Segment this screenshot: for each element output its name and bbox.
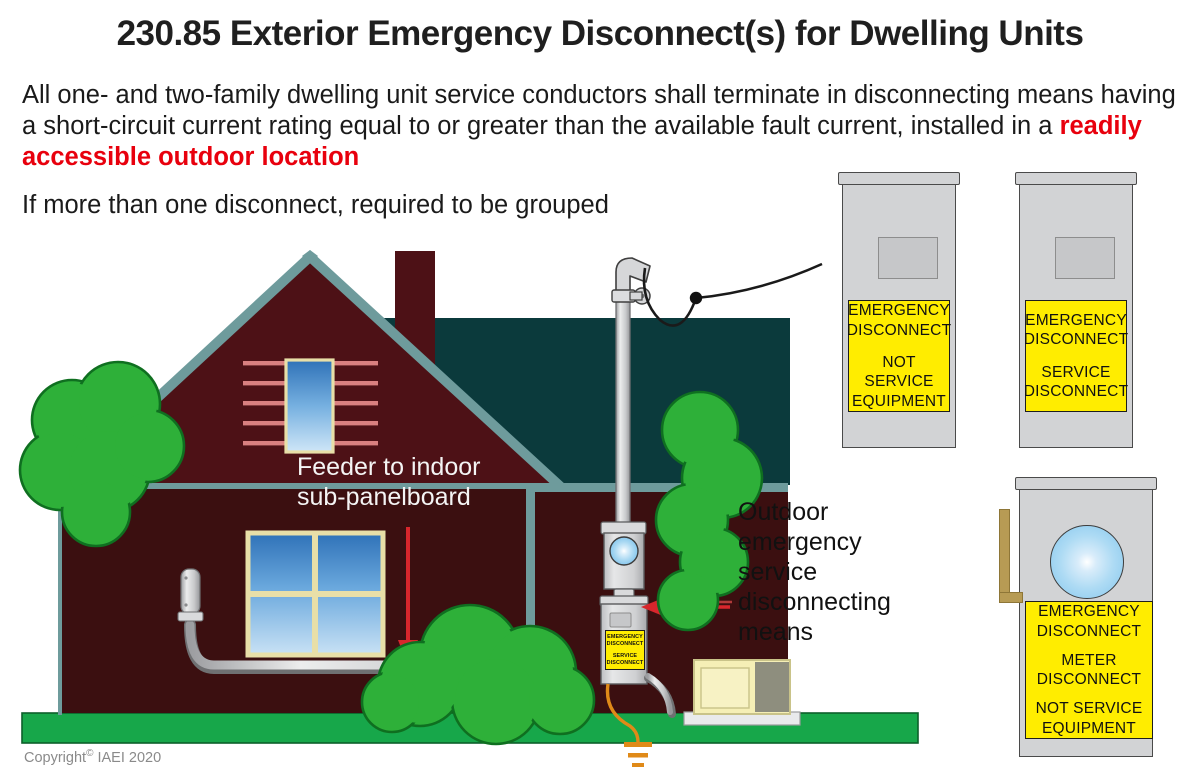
house-label-bottom-1: SERVICE <box>613 653 637 660</box>
panel-2-label-bottom-1: SERVICE <box>1041 363 1110 383</box>
panel-2-label-bottom-2: DISCONNECT <box>1024 382 1128 402</box>
panel-3-label-mid-2: DISCONNECT <box>1037 670 1141 690</box>
hvac-condenser-unit <box>684 660 800 725</box>
infographic-page: 230.85 Exterior Emergency Disconnect(s) … <box>0 0 1200 779</box>
panel-2-label-top-2: DISCONNECT <box>1024 330 1128 350</box>
outdoor-callout-line2: emergency <box>738 527 938 557</box>
panel-1-label-top-1: EMERGENCY <box>848 301 950 321</box>
house-disconnect-warning-label: EMERGENCY DISCONNECT SERVICE DISCONNECT <box>605 630 645 670</box>
panel-1-label-top-2: DISCONNECT <box>847 321 951 341</box>
panel-1-window <box>878 237 938 279</box>
panel-3-warning-label: EMERGENCY DISCONNECT METER DISCONNECT NO… <box>1025 601 1153 739</box>
panel-2-label-top-1: EMERGENCY <box>1025 311 1127 331</box>
panel-3-label-top-2: DISCONNECT <box>1037 622 1141 642</box>
outdoor-callout-line4: disconnecting <box>738 587 938 617</box>
panel-3-label-mid-1: METER <box>1061 651 1116 671</box>
panel-1-warning-label: EMERGENCY DISCONNECT NOT SERVICE EQUIPME… <box>848 300 950 412</box>
outdoor-disconnect-callout: Outdoor emergency service disconnecting … <box>738 497 938 647</box>
house-label-top-1: EMERGENCY <box>607 634 643 641</box>
feeder-callout: Feeder to indoor sub-panelboard <box>297 452 527 512</box>
feeder-callout-line2: sub-panelboard <box>297 482 527 512</box>
feeder-callout-line1: Feeder to indoor <box>297 452 527 482</box>
outdoor-callout-line3: service <box>738 557 938 587</box>
panel-1-label-bottom-1: NOT SERVICE <box>849 353 949 392</box>
panel-3-bracket-foot <box>999 592 1023 603</box>
panel-2-warning-label: EMERGENCY DISCONNECT SERVICE DISCONNECT <box>1025 300 1127 412</box>
outdoor-callout-line1: Outdoor <box>738 497 938 527</box>
panel-3-bracket-vertical <box>999 509 1010 603</box>
house-label-bottom-2: DISCONNECT <box>607 660 644 667</box>
main-window <box>248 533 383 655</box>
panel-2-window <box>1055 237 1115 279</box>
panel-3-label-bottom-2: EQUIPMENT <box>1042 719 1136 739</box>
panel-3-meter-glass <box>1050 525 1124 599</box>
house-meter-socket <box>601 522 646 598</box>
panel-3-label-top-1: EMERGENCY <box>1038 602 1140 622</box>
panel-3-label-bottom-1: NOT SERVICE <box>1036 699 1143 719</box>
outdoor-callout-line5: means <box>738 617 938 647</box>
panel-1-label-bottom-2: EQUIPMENT <box>852 392 946 412</box>
service-drop-conductor <box>644 264 822 326</box>
house-label-top-2: DISCONNECT <box>607 641 644 648</box>
